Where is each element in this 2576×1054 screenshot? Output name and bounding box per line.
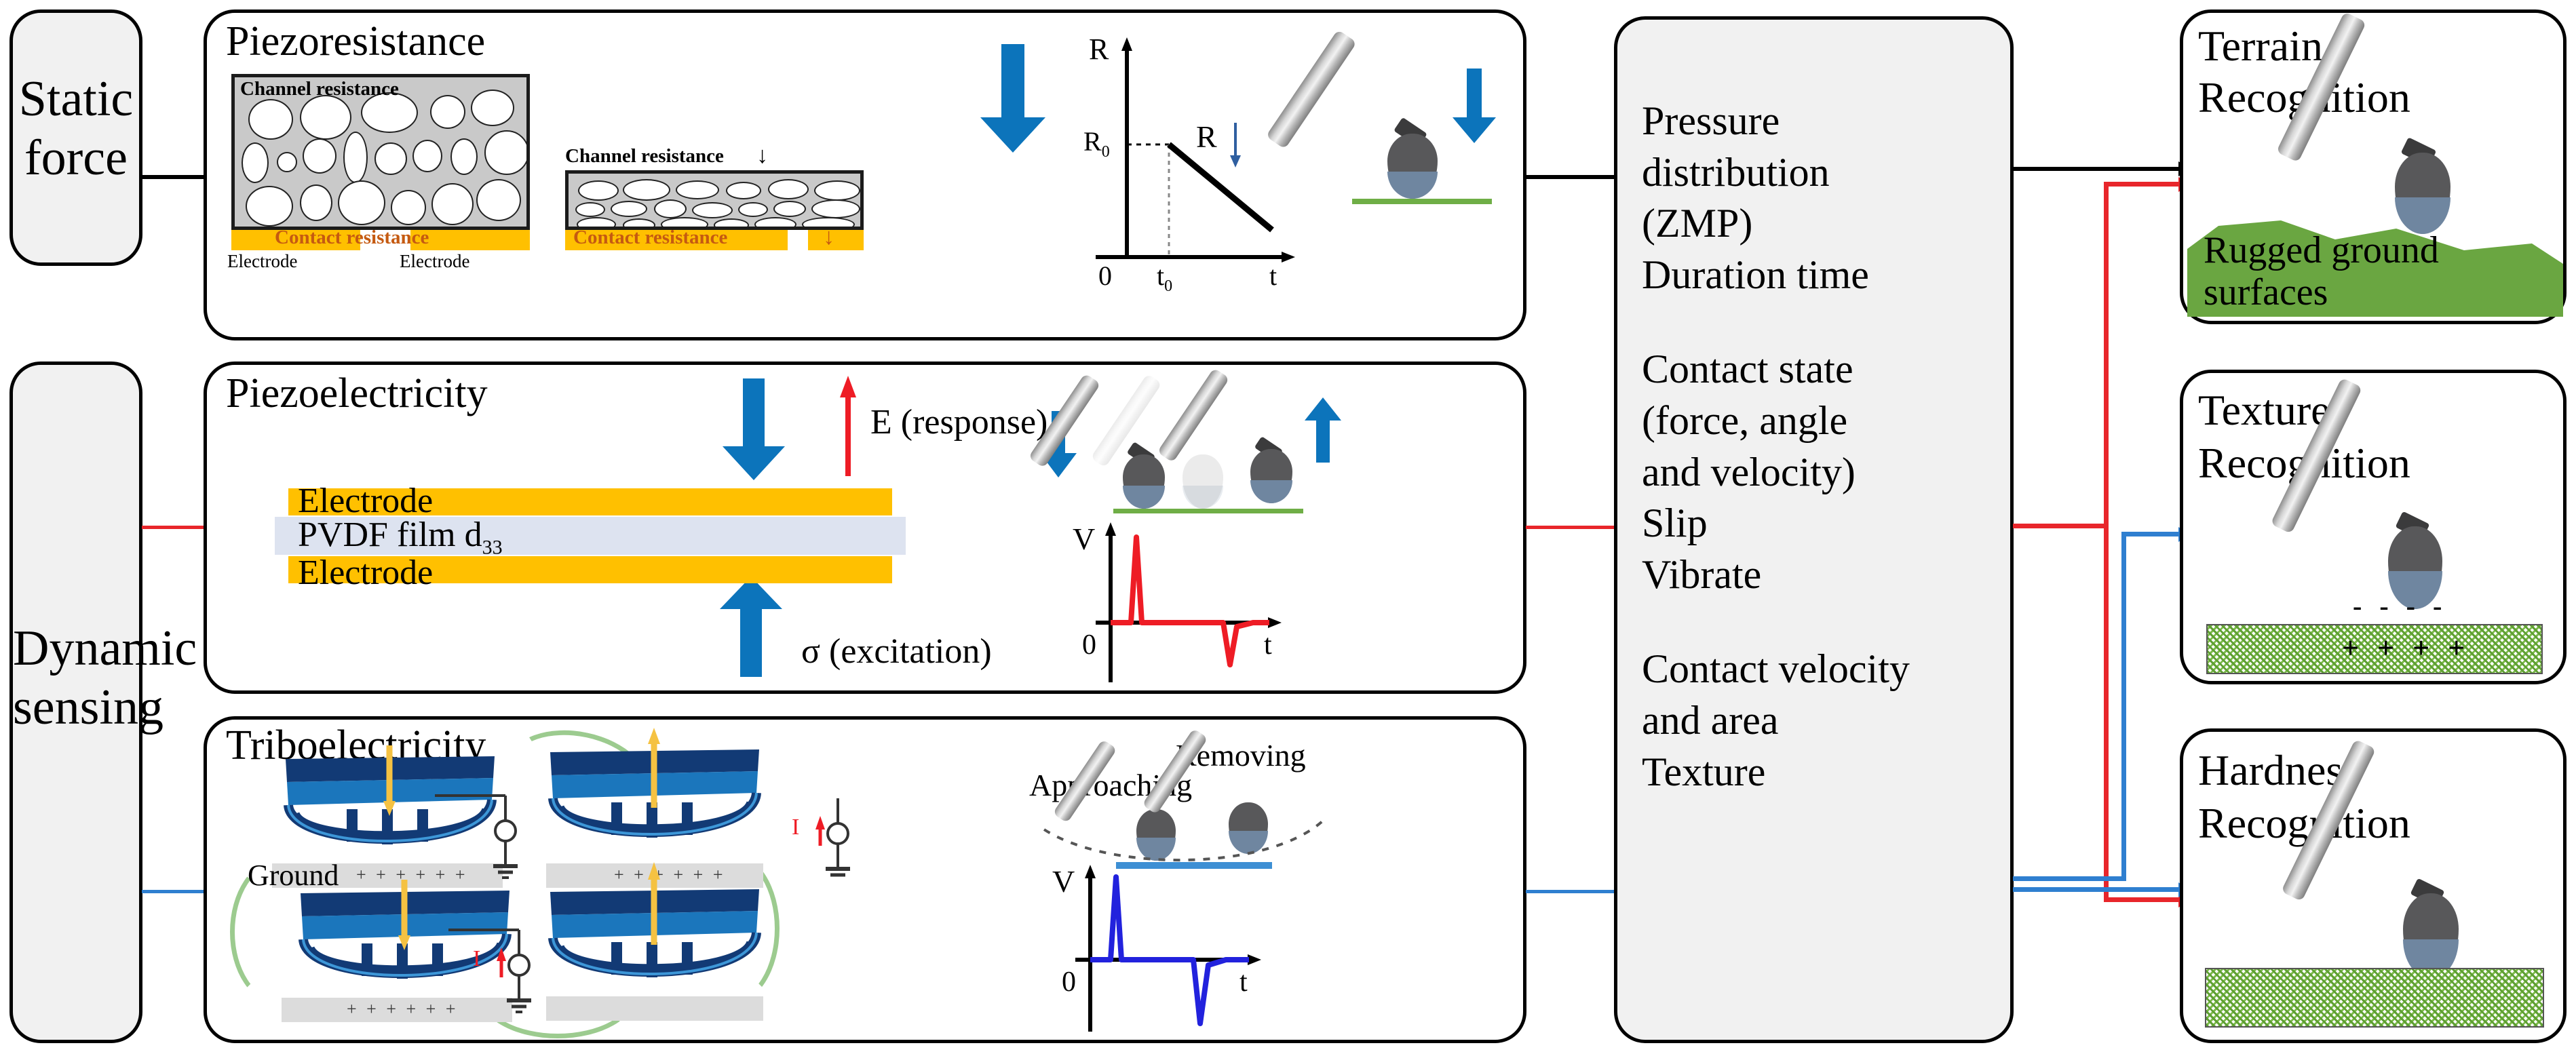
unpressed-electrode-right-label: Electrode — [400, 252, 469, 272]
terrain-recognition-panel[interactable]: Terrain Recognition Rugged ground surfac… — [2180, 9, 2567, 324]
contact-surface-line — [1352, 199, 1492, 204]
pressure-down-arrow-icon — [980, 44, 1045, 153]
red-bus-horizontal-from-outputs — [2013, 524, 2109, 528]
pressed-composite-block — [565, 170, 864, 230]
pressed-channel-resistance-arrow: ↓ — [756, 143, 768, 168]
graph-curve-label: R — [1196, 120, 1217, 155]
piezo-graph-origin-label: 0 — [1082, 629, 1096, 661]
hardness-title-line2: Recognition — [2198, 800, 2410, 847]
bottom-electrode-label: Electrode — [298, 553, 433, 592]
response-label: E (response) — [870, 403, 1047, 442]
terrain-caption-line2: surfaces — [2204, 272, 2328, 314]
finger-press-illustration — [1320, 33, 1516, 216]
pressed-channel-resistance-label: Channel resistance — [565, 146, 724, 168]
graph-origin-label: 0 — [1098, 261, 1112, 291]
excitation-up-arrow-icon — [720, 577, 782, 677]
connector-triboelectricity-to-outputs — [1526, 890, 1614, 893]
piezoresistance-title: Piezoresistance — [226, 18, 485, 64]
excitation-label: σ (excitation) — [801, 632, 992, 671]
output-group-pressure: Pressure distribution (ZMP) Duration tim… — [1642, 96, 2008, 300]
red-bus-vertical — [2104, 182, 2109, 902]
piezoelectricity-panel[interactable]: Piezoelectricity E (response) Electrode … — [204, 362, 1526, 694]
pressed-contact-resistance-label: Contact resistance — [573, 227, 727, 249]
hardness-recognition-panel[interactable]: Hardness Recognition — [2180, 728, 2567, 1043]
piezoelectricity-title: Piezoelectricity — [226, 370, 488, 416]
tribo-cup-top-right — [546, 748, 763, 857]
dynamic-sensing-box[interactable]: Dynamic sensing — [9, 362, 142, 1043]
tribo-graph-origin-label: 0 — [1062, 967, 1076, 998]
tribo-graph-x-axis-label: t — [1239, 967, 1248, 998]
triboelectricity-panel[interactable]: Triboelectricity Ground + + + + + + — [204, 716, 1526, 1043]
connector-dynamic-to-triboelectricity — [142, 890, 206, 893]
blue-bus-vertical — [2121, 532, 2126, 881]
blue-bus-horizontal-from-outputs — [2013, 876, 2126, 881]
press-down-arrow-icon — [1453, 69, 1496, 143]
piezoresistance-panel[interactable]: Piezoresistance Channel resistance Conta… — [204, 9, 1526, 340]
red-branch-to-terrain — [2104, 182, 2180, 187]
piezo-voltage-time-graph: V 0 t — [1069, 521, 1313, 690]
piezo-graph-x-axis-label: t — [1264, 629, 1272, 661]
connector-static-to-piezoresistance — [142, 175, 206, 179]
output-group-contact-velocity: Contact velocity and area Texture — [1642, 644, 2008, 798]
lift-up-arrow-icon — [1305, 397, 1341, 463]
tribo-current-label-1: I — [473, 946, 480, 971]
response-field-arrow-icon — [839, 376, 857, 477]
red-branch-to-hardness — [2104, 897, 2180, 902]
tribo-charge-row-3: + + + + + + — [347, 999, 458, 1019]
finger-tap-illustration — [1040, 372, 1352, 528]
tribo-charge-row-2: + + + + + + — [614, 865, 725, 885]
graph-y-tick-R0: R0 — [1083, 127, 1110, 161]
output-group-contact-state: Contact state (force, angle and velocity… — [1642, 344, 2008, 600]
sensing-outputs-panel[interactable]: Pressure distribution (ZMP) Duration tim… — [1614, 16, 2014, 1043]
dynamic-sensing-label-line2: sensing — [13, 678, 139, 737]
static-force-box[interactable]: Static force — [9, 9, 142, 266]
pvdf-film-label: PVDF film d33 — [298, 515, 503, 558]
connector-piezoresistance-to-outputs — [1526, 175, 1614, 179]
terrain-title-line1: Terrain — [2198, 22, 2323, 70]
unpressed-composite-block: Channel resistance — [231, 74, 530, 230]
blue-branch-to-hardness — [2013, 887, 2180, 892]
dynamic-sensing-label-line1: Dynamic — [13, 619, 139, 678]
blue-branch-to-texture — [2121, 532, 2180, 536]
connector-outputs-to-terrain — [2013, 167, 2180, 171]
connector-piezoelectricity-to-outputs — [1526, 526, 1614, 529]
texture-tip-charges: - - - - — [2353, 591, 2447, 621]
tribo-current-label-2: I — [792, 815, 799, 840]
tribo-circuit-3 — [767, 796, 856, 904]
compression-down-arrow-icon — [723, 378, 785, 480]
top-electrode-label: Electrode — [298, 482, 433, 520]
connector-dynamic-to-piezoelectricity — [142, 526, 206, 529]
unpressed-contact-resistance-label: Contact resistance — [275, 227, 429, 249]
texture-recognition-panel[interactable]: Texture Recognition - - - - + + + + — [2180, 370, 2567, 684]
tribo-voltage-time-graph: V 0 t — [1048, 863, 1306, 1040]
static-force-label-line2: force — [13, 129, 139, 188]
texture-title-line1: Texture — [2198, 387, 2330, 434]
pressed-contact-resistance-arrow: ↓ — [823, 225, 834, 250]
tribo-ground-label: Ground — [248, 859, 339, 892]
graph-x-tick-t0: t0 — [1157, 261, 1172, 295]
tribo-ground-bar-4 — [546, 996, 763, 1021]
terrain-caption-line1: Rugged ground — [2204, 230, 2439, 272]
graph-x-axis-label: t — [1269, 261, 1277, 291]
approach-remove-illustration: Approaching Removing — [1007, 729, 1360, 885]
tribo-cup-bottom-right — [546, 888, 763, 996]
unpressed-channel-resistance-label: Channel resistance — [240, 79, 399, 100]
hardness-surface-hatched — [2205, 968, 2544, 1028]
tribo-circuit-2 — [448, 927, 537, 1029]
texture-surface-charges: + + + + — [2342, 632, 2470, 665]
static-force-label-line1: Static — [13, 70, 139, 129]
unpressed-electrode-left-label: Electrode — [227, 252, 297, 272]
tribo-circuit-1 — [435, 793, 523, 895]
tap-surface-line — [1113, 509, 1303, 513]
resistance-time-graph: R R0 0 t0 t R — [1082, 33, 1306, 305]
pressed-electrode-right-bar — [808, 230, 864, 250]
